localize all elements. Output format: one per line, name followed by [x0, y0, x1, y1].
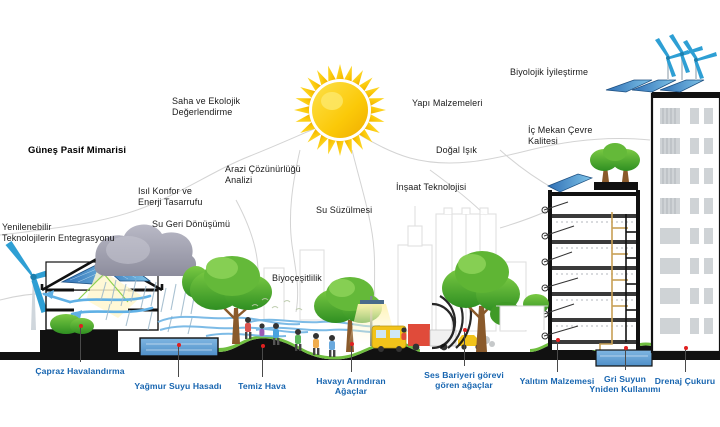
solar-panel-icon: [606, 80, 704, 92]
concept-label-gunes-pasif-mimarisi: Güneş Pasif Mimarisi: [28, 145, 148, 156]
marker-dot-ses-bariyeri-agaclar: [463, 328, 467, 332]
concept-label-ic-mekan-cevre-kalitesi: İç Mekan Çevre Kalitesi: [528, 125, 623, 146]
marker-dot-gri-suyun-yeniden-kullanimi: [624, 346, 628, 350]
leader-line-ses-bariyeri-agaclar: [464, 330, 465, 366]
greywater-tank: [596, 350, 652, 366]
concept-label-isil-konfor: Isıl Konfor ve Enerji Tasarrufu: [138, 186, 233, 207]
roof-wind-turbines: [655, 34, 717, 80]
building-cross-section: [542, 143, 640, 352]
concept-label-su-geri-donusumu: Su Geri Dönüşümü: [152, 219, 252, 230]
sun-icon: [294, 64, 386, 156]
feature-label-capraz-havalandirma: Çapraz Havalandırma: [25, 366, 135, 376]
concept-label-arazi-cozunurlugu: Arazi Çözünürlüğü Analizi: [225, 164, 325, 185]
concept-label-biyolojik-iyilestirme: Biyolojik İyileştirme: [510, 67, 620, 78]
marker-dot-drenaj-cukuru: [684, 346, 688, 350]
concept-label-saha-ve-ekolojik: Saha ve Ekolojik Değerlendirme: [172, 96, 272, 117]
feature-label-yagmur-suyu-hasadi: Yağmur Suyu Hasadı: [126, 381, 230, 391]
concept-label-yapi-malzemeleri: Yapı Malzemeleri: [412, 98, 507, 109]
leader-line-drenaj-cukuru: [685, 348, 686, 372]
leader-line-capraz-havalandirma: [80, 326, 81, 362]
marker-dot-yagmur-suyu-hasadi: [177, 343, 181, 347]
marker-dot-capraz-havalandirma: [79, 324, 83, 328]
infographic-canvas: Güneş Pasif MimarisiYenilenebilir Teknol…: [0, 0, 720, 427]
concept-label-dogal-isik: Doğal Işık: [436, 145, 498, 156]
leader-line-yalitim-malzemesi: [557, 340, 558, 372]
concept-label-su-suzulmesi: Su Süzülmesi: [316, 205, 396, 216]
pedestrian: [401, 327, 406, 340]
feature-label-temiz-hava: Temiz Hava: [227, 381, 297, 391]
concept-label-biyocesitlilik: Biyoçeşitlilik: [272, 273, 342, 284]
feature-label-drenaj-cukuru: Drenaj Çukuru: [643, 376, 720, 386]
marker-dot-yalitim-malzemesi: [556, 338, 560, 342]
rooftop-trees: [590, 143, 640, 190]
marker-dot-temiz-hava: [261, 344, 265, 348]
leader-line-yagmur-suyu-hasadi: [178, 345, 179, 377]
feature-label-havayi-arindiran-agaclar: Havayı Arındıran Ağaçlar: [303, 376, 399, 396]
leader-line-gri-suyun-yeniden-kullanimi: [625, 348, 626, 370]
marker-dot-havayi-arindiran-agaclar: [350, 342, 354, 346]
sketch-low-building: [496, 306, 548, 330]
bus-icon: [372, 326, 406, 352]
leader-line-temiz-hava: [262, 346, 263, 377]
leader-line-havayi-arindiran-agaclar: [351, 344, 352, 372]
concept-label-insaat-teknolojisi: İnşaat Teknolojisi: [396, 182, 494, 193]
solar-panel-icon: [548, 174, 592, 192]
feature-label-ses-bariyeri-agaclar: Ses Bariyeri görevi gören ağaçlar: [412, 370, 516, 390]
concept-label-yenilenebilir-teknolojiler: Yenilenebilir Teknolojilerin Entegrasyon…: [2, 222, 132, 243]
rainwater-basin: [140, 338, 218, 356]
